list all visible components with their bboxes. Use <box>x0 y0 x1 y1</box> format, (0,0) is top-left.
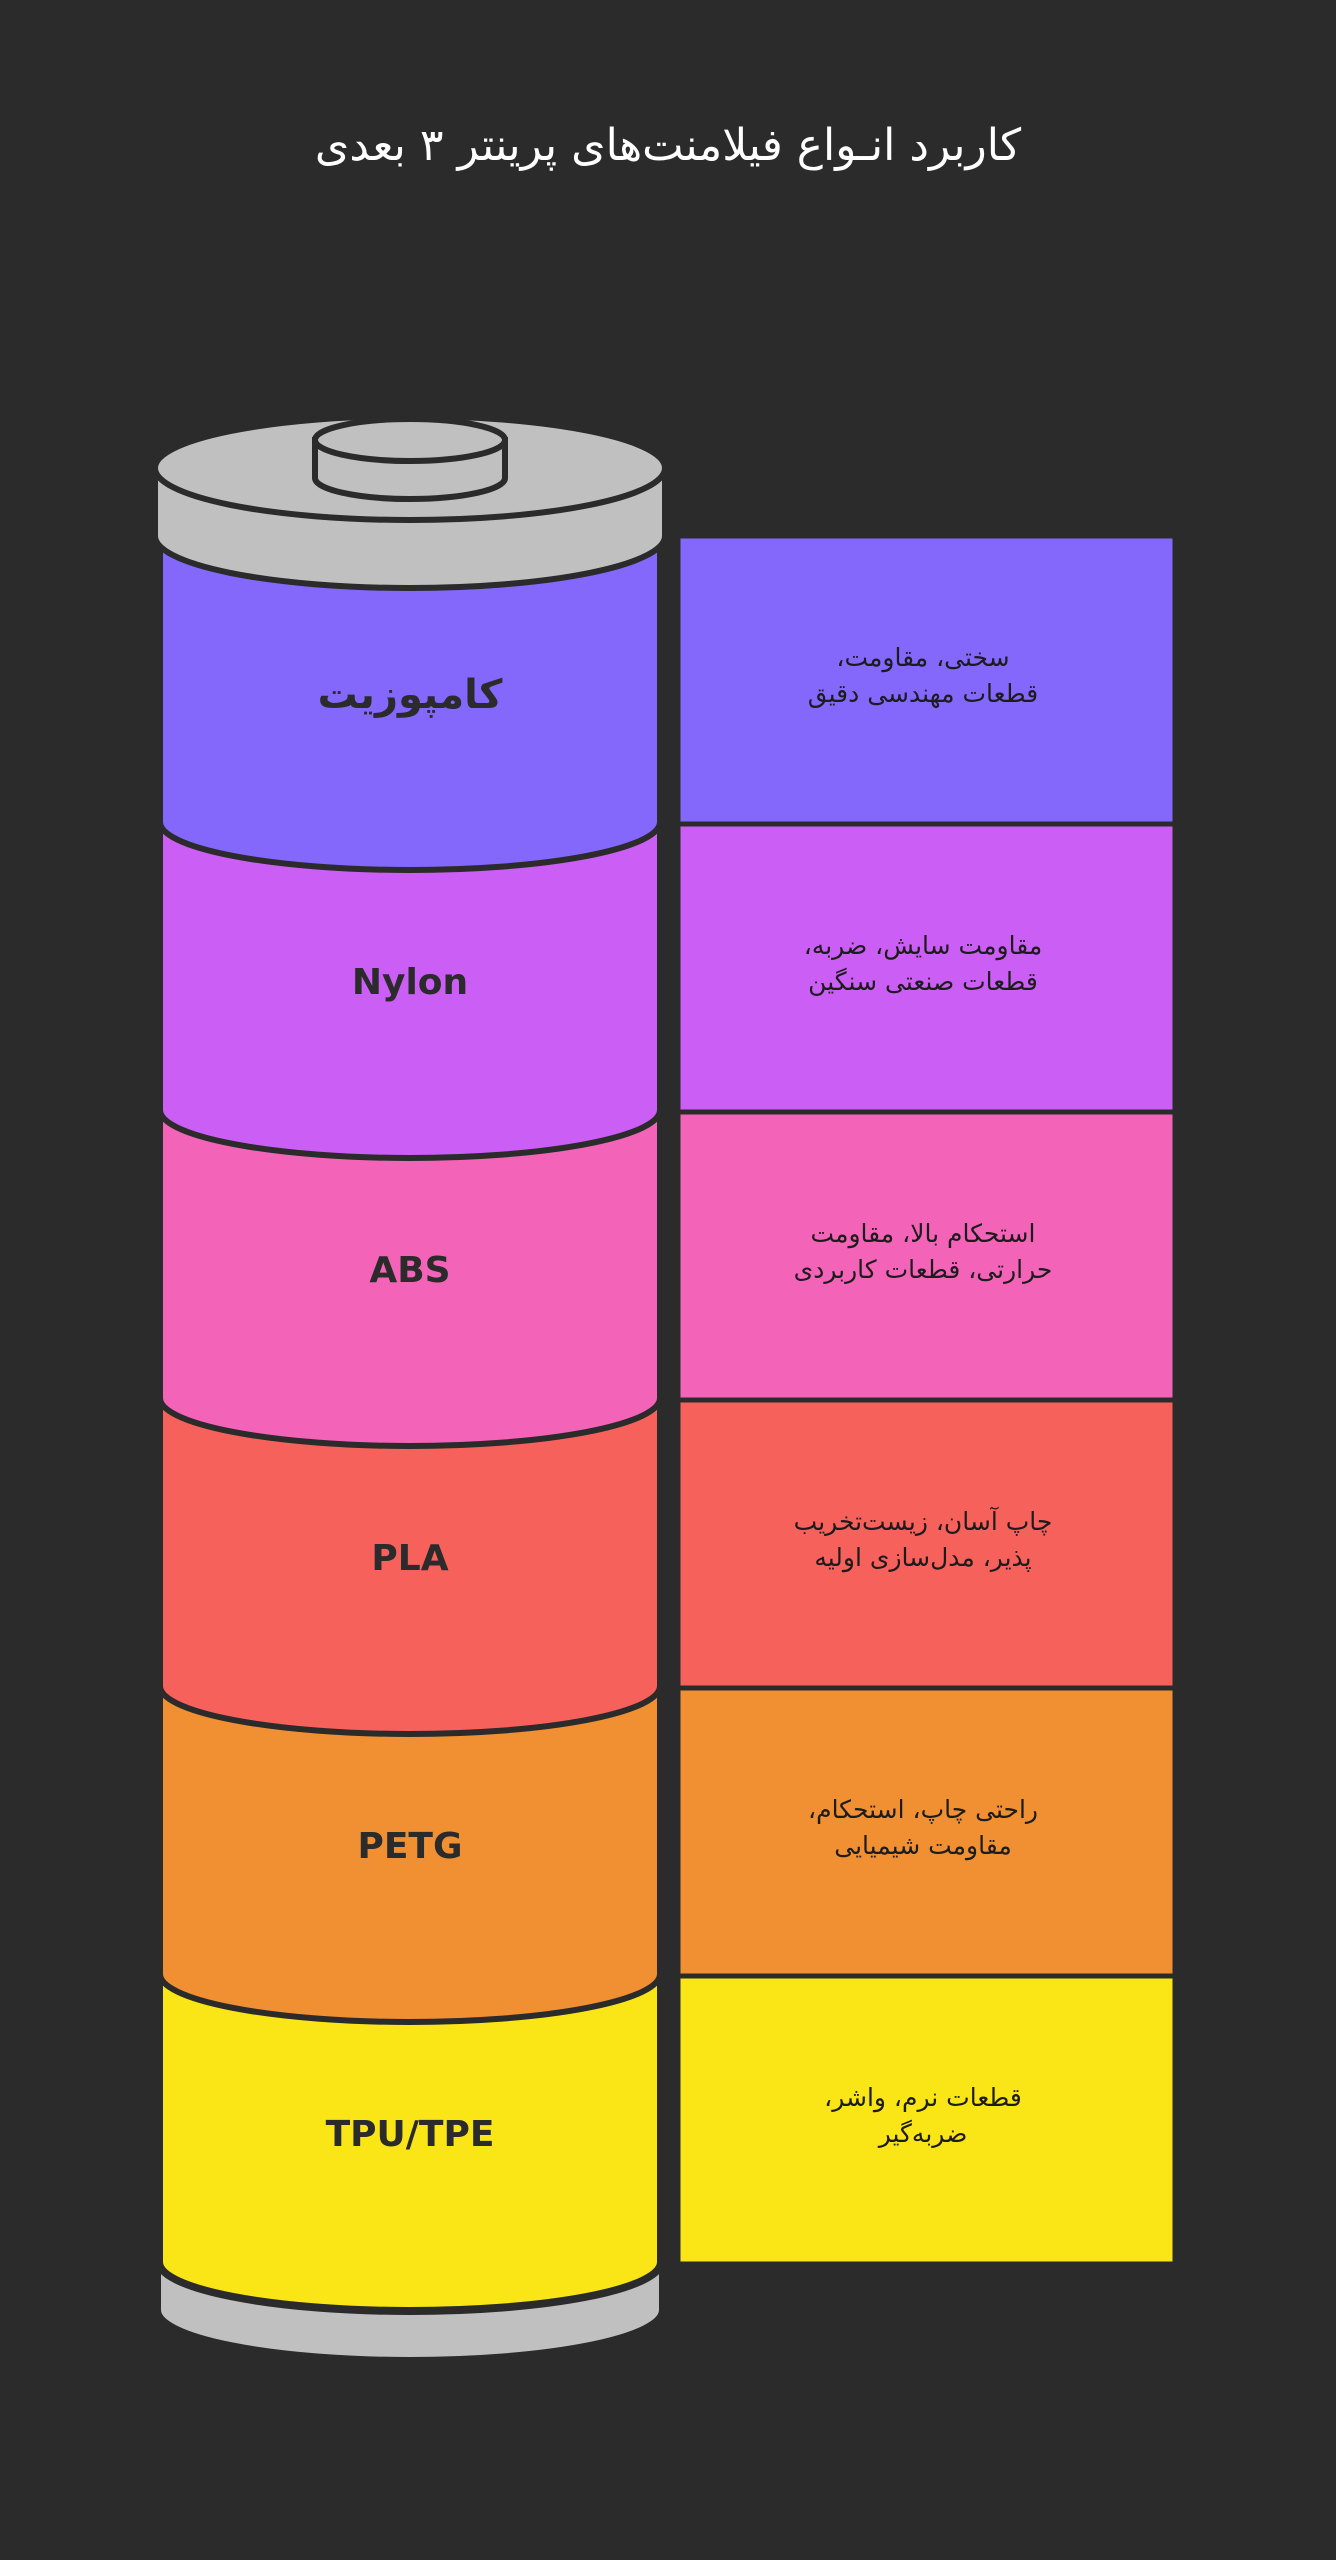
spool-segments <box>160 536 660 2310</box>
desc-line: چاپ آسان، زیست‌تخریب <box>678 1504 1168 1540</box>
spool-label-tputpe: TPU/TPE <box>160 2117 660 2153</box>
spool-hub <box>315 419 505 499</box>
desc-text-nylon: مقاومت سایش، ضربه، قطعات صنعتی سنگین <box>678 928 1168 1001</box>
desc-text-tputpe: قطعات نرم، واشر، ضربه‌گیر <box>678 2080 1168 2153</box>
spool-label-pla: PLA <box>160 1541 660 1577</box>
desc-text-abs: استحکام بالا، مقاومت حرارتی، قطعات کاربر… <box>678 1216 1168 1289</box>
desc-line: قطعات صنعتی سنگین <box>678 964 1168 1000</box>
spool-label-petg: PETG <box>160 1829 660 1865</box>
desc-text-pla: چاپ آسان، زیست‌تخریب پذیر، مدل‌سازی اولی… <box>678 1504 1168 1577</box>
desc-line: ضربه‌گیر <box>678 2116 1168 2152</box>
desc-text-petg: راحتی چاپ، استحکام، مقاومت شیمیایی <box>678 1792 1168 1865</box>
desc-text-composite: سختی، مقاومت، قطعات مهندسی دقیق <box>678 640 1168 713</box>
desc-line: قطعات مهندسی دقیق <box>678 676 1168 712</box>
desc-line: استحکام بالا، مقاومت <box>678 1216 1168 1252</box>
desc-line: راحتی چاپ، استحکام، <box>678 1792 1168 1828</box>
description-panels <box>678 536 1175 2264</box>
desc-line: سختی، مقاومت، <box>678 640 1168 676</box>
desc-line: پذیر، مدل‌سازی اولیه <box>678 1540 1168 1576</box>
spool-label-nylon: Nylon <box>160 965 660 1001</box>
desc-line: حرارتی، قطعات کاربردی <box>678 1252 1168 1288</box>
spool-label-composite: کامپوزیت <box>160 675 660 715</box>
desc-line: قطعات نرم، واشر، <box>678 2080 1168 2116</box>
desc-line: مقاومت سایش، ضربه، <box>678 928 1168 964</box>
page-title: کاربرد انـواع فیلامنت‌های پرینتر ۳ بعدی <box>0 120 1336 173</box>
spool-label-abs: ABS <box>160 1253 660 1289</box>
hub-top <box>315 419 505 461</box>
desc-line: مقاومت شیمیایی <box>678 1828 1168 1864</box>
